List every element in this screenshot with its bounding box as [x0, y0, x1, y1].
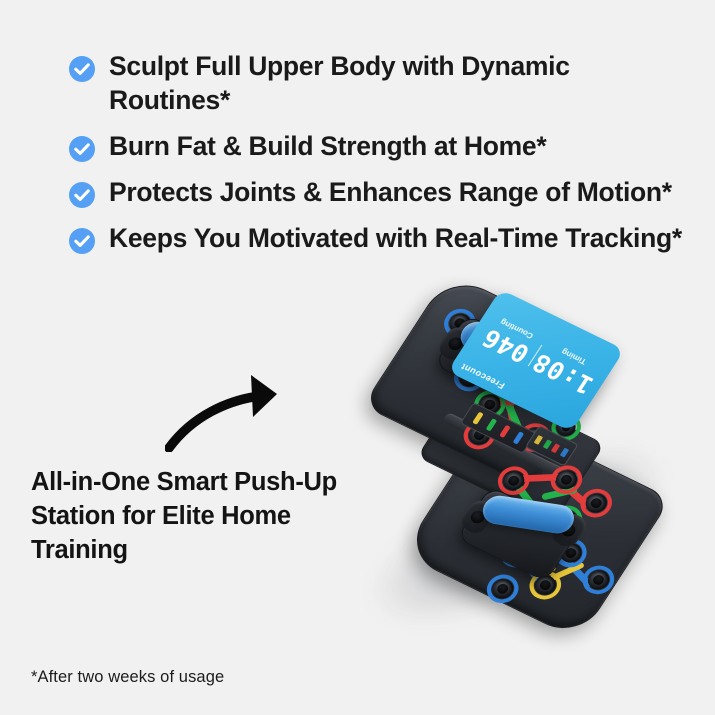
- marker-red-icon: [499, 425, 511, 438]
- product-marketing-card: Sculpt Full Upper Body with Dynamic Rout…: [0, 0, 715, 715]
- benefit-text: Protects Joints & Enhances Range of Moti…: [109, 176, 672, 210]
- check-circle-icon: [68, 55, 96, 83]
- benefit-text: Keeps You Motivated with Real-Time Track…: [109, 222, 682, 256]
- indicator-yellow-icon: [534, 435, 543, 445]
- indicator-red-icon: [551, 443, 560, 453]
- benefits-list: Sculpt Full Upper Body with Dynamic Rout…: [68, 50, 698, 268]
- marker-blue-icon: [513, 431, 525, 444]
- benefit-text: Burn Fat & Build Strength at Home*: [109, 130, 546, 164]
- benefit-text: Sculpt Full Upper Body with Dynamic Rout…: [109, 50, 684, 118]
- check-circle-icon: [68, 181, 96, 209]
- footnote: *After two weeks of usage: [31, 668, 224, 687]
- push-up-board: [248, 238, 715, 692]
- indicator-green-icon: [543, 439, 552, 449]
- curved-arrow-right-icon: [165, 372, 290, 452]
- list-item: Protects Joints & Enhances Range of Moti…: [68, 176, 698, 210]
- list-item: Burn Fat & Build Strength at Home*: [68, 130, 698, 164]
- indicator-blue-icon: [560, 447, 569, 457]
- list-item: Keeps You Motivated with Real-Time Track…: [68, 222, 698, 256]
- check-circle-icon: [68, 135, 96, 163]
- list-item: Sculpt Full Upper Body with Dynamic Rout…: [68, 50, 698, 118]
- marker-green-icon: [486, 418, 498, 431]
- marker-yellow-icon: [472, 412, 484, 425]
- check-circle-icon: [68, 227, 96, 255]
